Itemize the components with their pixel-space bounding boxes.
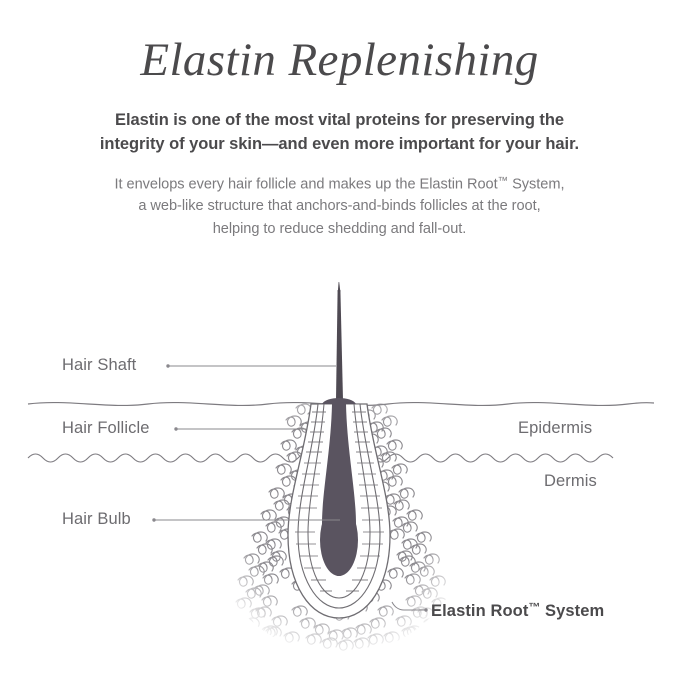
label-elastin-root-pre: Elastin Root	[431, 602, 528, 620]
label-elastin-root-post: System	[540, 602, 604, 620]
trademark-symbol-label: ™	[528, 600, 540, 614]
leader-dot-elastin-root	[424, 608, 427, 611]
label-hair-follicle: Hair Follicle	[62, 419, 149, 438]
follicle-illustration	[0, 0, 679, 679]
hair-shaft	[336, 290, 343, 400]
label-epidermis: Epidermis	[518, 419, 592, 438]
label-hair-bulb: Hair Bulb	[62, 510, 131, 529]
label-elastin-root-system: Elastin Root™ System	[431, 600, 604, 621]
leader-dot-hair-follicle	[174, 427, 177, 430]
leader-dots	[152, 364, 427, 611]
leader-elastin-root-hook	[392, 602, 404, 610]
leader-dot-hair-shaft	[166, 364, 169, 367]
elastin-infographic: Elastin Replenishing Elastin is one of t…	[0, 0, 679, 679]
leader-dot-hair-bulb	[152, 518, 155, 521]
hair-shaft-collar	[322, 398, 356, 404]
hair-shaft-tip	[338, 282, 341, 292]
label-dermis: Dermis	[544, 472, 597, 491]
hair-bulb-tip	[320, 504, 358, 576]
label-hair-shaft: Hair Shaft	[62, 356, 136, 375]
